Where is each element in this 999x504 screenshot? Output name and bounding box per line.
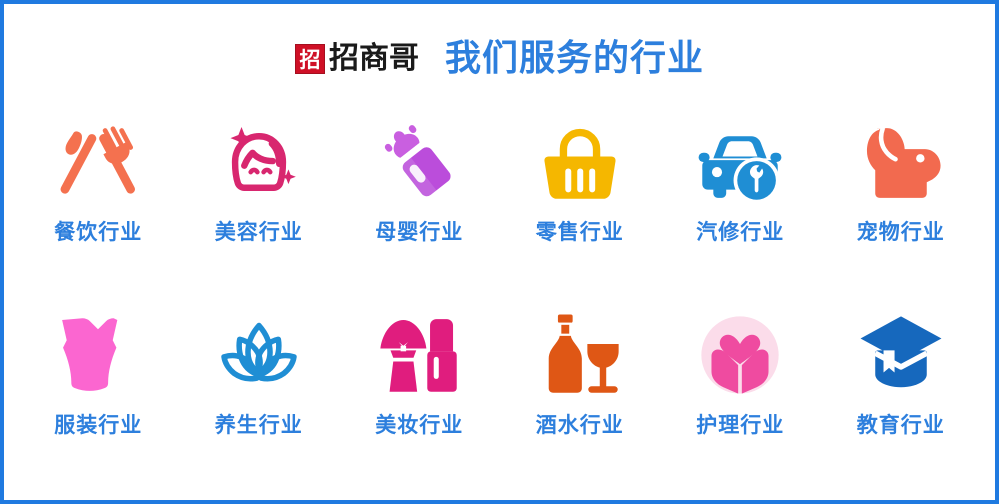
brand-name: 招商哥 bbox=[329, 44, 419, 74]
baby-bottle-icon bbox=[371, 114, 467, 210]
industry-item-retail[interactable]: 零售行业 bbox=[500, 100, 661, 293]
industry-item-label: 教育行业 bbox=[857, 415, 945, 436]
industry-item-pet[interactable]: 宠物行业 bbox=[821, 100, 982, 293]
industry-item-label: 护理行业 bbox=[696, 415, 784, 436]
industry-item-label: 美妆行业 bbox=[375, 415, 463, 436]
makeup-brush-lipstick-icon bbox=[371, 307, 467, 403]
industry-item-label: 美容行业 bbox=[215, 222, 303, 243]
industry-item-education[interactable]: 教育行业 bbox=[821, 293, 982, 486]
industry-item-beverage[interactable]: 酒水行业 bbox=[500, 293, 661, 486]
graduation-cap-icon bbox=[853, 307, 949, 403]
industry-item-label: 母婴行业 bbox=[375, 222, 463, 243]
industry-item-catering[interactable]: 餐饮行业 bbox=[18, 100, 179, 293]
industry-grid: 餐饮行业 bbox=[4, 100, 995, 500]
industry-item-nursing-care[interactable]: 护理行业 bbox=[660, 293, 821, 486]
industry-item-cosmetics[interactable]: 美妆行业 bbox=[339, 293, 500, 486]
lotus-icon bbox=[211, 307, 307, 403]
industry-item-apparel[interactable]: 服装行业 bbox=[18, 293, 179, 486]
industry-item-label: 宠物行业 bbox=[857, 222, 945, 243]
bottle-wineglass-icon bbox=[532, 307, 628, 403]
industry-item-label: 汽修行业 bbox=[696, 222, 784, 243]
page-title: 我们服务的行业 bbox=[445, 41, 704, 77]
brand-mark-icon: 招 bbox=[295, 44, 325, 74]
page-header: 招 招商哥 我们服务的行业 bbox=[4, 4, 995, 100]
industry-item-beauty[interactable]: 美容行业 bbox=[179, 100, 340, 293]
car-repair-icon bbox=[692, 114, 788, 210]
fork-spoon-icon bbox=[50, 114, 146, 210]
page-frame: 招 招商哥 我们服务的行业 bbox=[0, 0, 999, 504]
dog-head-icon bbox=[853, 114, 949, 210]
industry-item-label: 养生行业 bbox=[215, 415, 303, 436]
industry-item-label: 服装行业 bbox=[54, 415, 142, 436]
industry-item-wellness[interactable]: 养生行业 bbox=[179, 293, 340, 486]
industry-item-label: 餐饮行业 bbox=[54, 222, 142, 243]
industry-item-auto-repair[interactable]: 汽修行业 bbox=[660, 100, 821, 293]
hands-heart-icon bbox=[692, 307, 788, 403]
industry-item-label: 零售行业 bbox=[536, 222, 624, 243]
dress-icon bbox=[50, 307, 146, 403]
brand-logo: 招 招商哥 bbox=[295, 44, 419, 74]
industry-item-maternal-baby[interactable]: 母婴行业 bbox=[339, 100, 500, 293]
shopping-basket-icon bbox=[532, 114, 628, 210]
woman-face-icon bbox=[211, 114, 307, 210]
industry-item-label: 酒水行业 bbox=[536, 415, 624, 436]
